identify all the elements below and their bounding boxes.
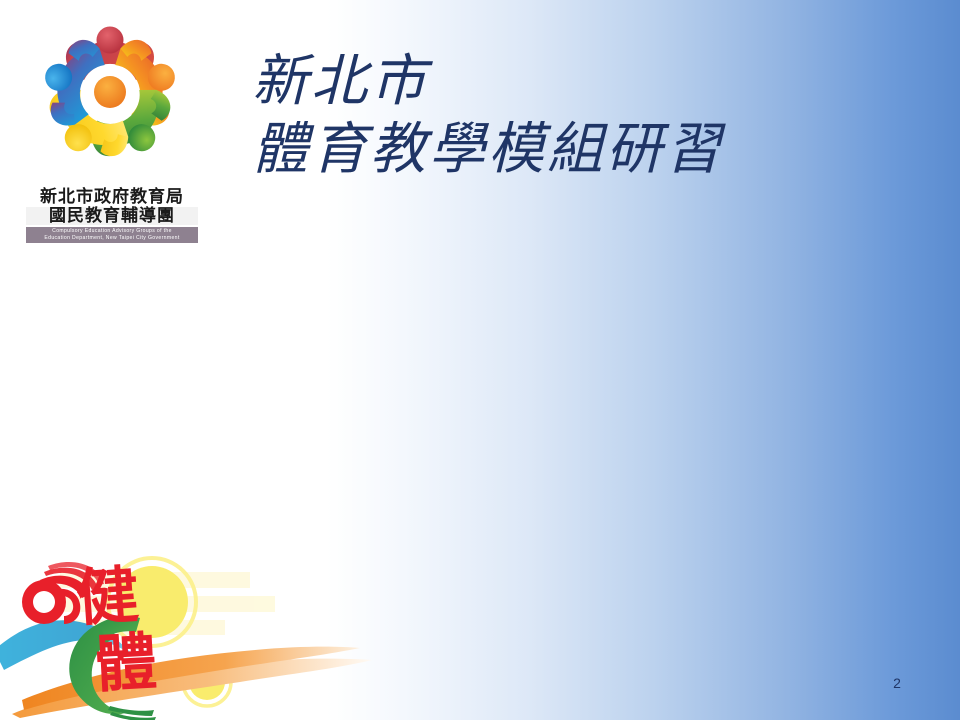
slide-title: 新北市 體育教學模組研習	[252, 48, 852, 185]
org-english-line-2: Education Department, New Taipei City Go…	[26, 235, 197, 242]
slide-title-line-2: 體育教學模組研習	[252, 116, 852, 184]
org-english-line-1: Compulsory Education Advisory Groups of …	[26, 228, 197, 235]
pe-char-jian: 健	[74, 558, 141, 635]
organization-nameplate: 新北市政府教育局 國民教育輔導團 Compulsory Education Ad…	[26, 188, 198, 250]
page-number: 2	[884, 676, 910, 690]
slide-canvas: 新北市政府教育局 國民教育輔導團 Compulsory Education Ad…	[0, 0, 960, 720]
organization-logo: 新北市政府教育局 國民教育輔導團 Compulsory Education Ad…	[20, 14, 200, 250]
pe-char-ti: 體	[93, 625, 159, 701]
org-name-line-2: 國民教育輔導團	[26, 207, 198, 225]
organization-english-name: Compulsory Education Advisory Groups of …	[26, 227, 198, 244]
slide-title-line-1: 新北市	[252, 48, 852, 116]
health-and-physical-education-emblem-icon: 健 體	[0, 520, 400, 720]
five-figures-circle-emblem-icon	[28, 14, 193, 184]
org-name-line-1: 新北市政府教育局	[26, 188, 198, 206]
